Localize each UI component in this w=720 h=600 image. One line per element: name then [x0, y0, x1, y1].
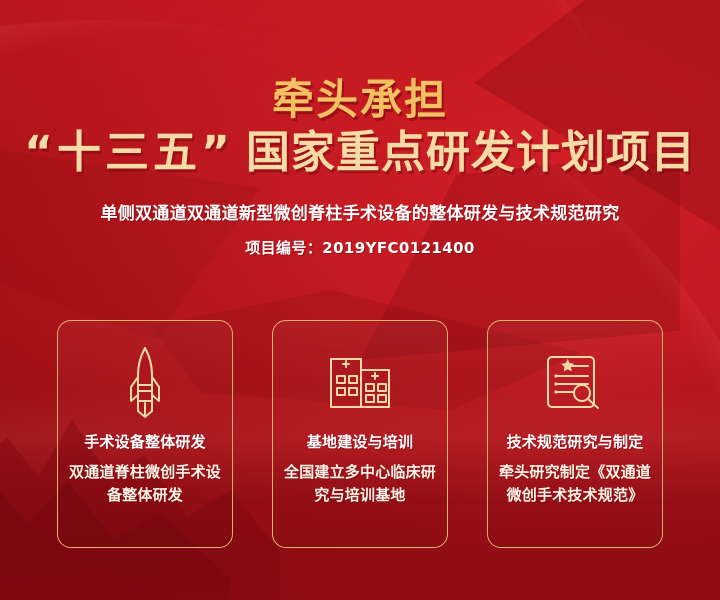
- hospital-building-icon: [328, 343, 392, 421]
- project-subtitle: 单侧双通道双通道新型微创脊柱手术设备的整体研发与技术规范研究: [0, 199, 720, 224]
- title-block: 牵头承担 “十三五”国家重点研发计划项目 单侧双通道双通道新型微创脊柱手术设备的…: [0, 0, 720, 258]
- feature-card-title: 基地建设与培训: [307, 431, 413, 452]
- feature-card[interactable]: 手术设备整体研发 双通道脊柱微创手术设备整体研发: [57, 320, 233, 548]
- feature-card[interactable]: 基地建设与培训 全国建立多中心临床研究与培训基地: [272, 320, 448, 548]
- headline-secondary-rest: 国家重点研发计划项目: [246, 127, 696, 178]
- project-number: 项目编号：2019YFC0121400: [0, 237, 720, 258]
- feature-card-list: 手术设备整体研发 双通道脊柱微创手术设备整体研发: [57, 320, 663, 548]
- feature-card-title: 手术设备整体研发: [84, 431, 206, 452]
- poster-content: 牵头承担 “十三五”国家重点研发计划项目 单侧双通道双通道新型微创脊柱手术设备的…: [0, 0, 720, 600]
- headline-primary: 牵头承担: [0, 78, 720, 122]
- poster-canvas: 牵头承担 “十三五”国家重点研发计划项目 单侧双通道双通道新型微创脊柱手术设备的…: [0, 0, 720, 600]
- feature-card-description: 全国建立多中心临床研究与培训基地: [284, 461, 436, 506]
- feature-card-description: 牵头研究制定《双通道微创手术技术规范》: [499, 461, 651, 506]
- rocket-icon: [125, 343, 165, 421]
- document-search-icon: [546, 343, 604, 421]
- feature-card-description: 双通道脊柱微创手术设备整体研发: [69, 461, 221, 506]
- headline-quoted-term: “十三五”: [24, 127, 234, 178]
- feature-card-title: 技术规范研究与制定: [507, 431, 644, 452]
- headline-secondary: “十三五”国家重点研发计划项目: [0, 128, 720, 177]
- feature-card[interactable]: 技术规范研究与制定 牵头研究制定《双通道微创手术技术规范》: [487, 320, 663, 548]
